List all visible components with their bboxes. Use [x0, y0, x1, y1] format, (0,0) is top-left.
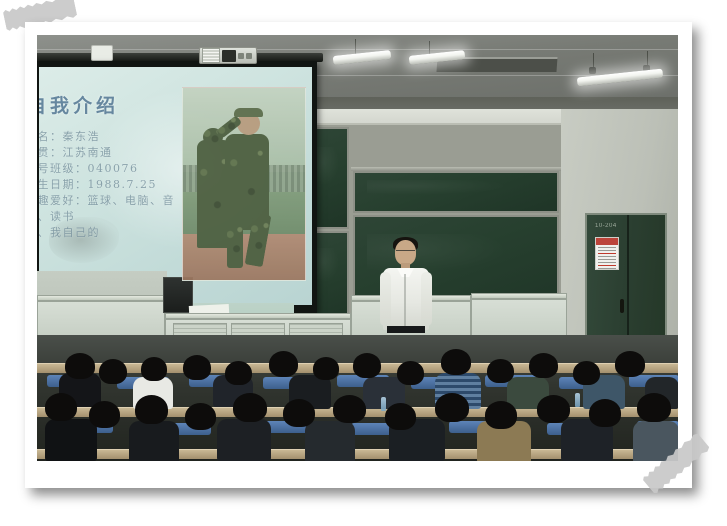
door-notice-sign: [595, 237, 619, 270]
student-head: [333, 395, 366, 423]
projected-slide: 自我介绍 姓名：秦东浩 籍贯：江苏南通 学号班级：040076 出生日期：198…: [39, 67, 312, 305]
student-head: [385, 403, 416, 430]
student-head: [573, 361, 600, 385]
student-head: [615, 351, 645, 377]
student-head: [397, 361, 424, 385]
notice-text-lines: [596, 245, 618, 269]
slide-line: 兴趣爱好：篮球、电脑、音: [39, 193, 175, 209]
presenter-belt: [387, 326, 425, 333]
notice-line: [598, 250, 616, 251]
slide-line: 姓名：秦东浩: [39, 129, 175, 145]
slide-line: 学号班级：040076: [39, 161, 175, 177]
water-bottle: [381, 397, 386, 411]
water-bottle: [575, 393, 580, 407]
student-head: [65, 353, 95, 379]
notice-line: [598, 265, 616, 266]
student-head: [487, 359, 514, 383]
slide-embedded-photo: [182, 87, 306, 281]
ceiling-projector-unit: [199, 47, 257, 64]
blackboard-panel-left-top: [313, 127, 349, 229]
student-head: [435, 393, 469, 422]
presenter-arm-right: [421, 272, 432, 326]
soldier-cap-icon: [234, 108, 263, 117]
slide-line: 出生日期：1988.7.25: [39, 177, 175, 193]
notice-line: [598, 247, 616, 248]
student-torso: [633, 421, 678, 461]
classroom-photograph: 自我介绍 姓名：秦东浩 籍贯：江苏南通 学号班级：040076 出生日期：198…: [37, 35, 678, 461]
student-head: [529, 353, 558, 378]
light-bracket: [589, 67, 596, 74]
student-head: [45, 393, 77, 421]
projector-button-icon[interactable]: [238, 53, 244, 59]
slide-line: 二、我自己的: [39, 225, 175, 241]
student-head: [135, 395, 168, 424]
student-head: [485, 401, 517, 429]
student-head: [283, 399, 315, 427]
projector-button-icon[interactable]: [246, 53, 252, 59]
screen-bracket-left: [91, 45, 113, 61]
student-head: [441, 349, 471, 375]
student-torso: [305, 421, 355, 461]
blackboard-upper-rail: [351, 167, 561, 171]
student-torso: [217, 419, 271, 461]
student-head: [637, 393, 671, 422]
ceiling-light-1: [333, 50, 392, 65]
soldier-leg-left: [227, 220, 243, 268]
student-head: [89, 401, 120, 428]
slide-line: 乐、读书: [39, 209, 175, 225]
slide-line: 籍贯：江苏南通: [39, 145, 175, 161]
slide-body-text: 姓名：秦东浩 籍贯：江苏南通 学号班级：040076 出生日期：1988.7.2…: [39, 129, 175, 241]
notice-line: [598, 259, 616, 260]
notice-line: [598, 256, 616, 257]
student-head: [99, 359, 127, 384]
student-head: [589, 399, 621, 427]
student-head: [313, 357, 339, 380]
student-torso: [45, 419, 97, 461]
student-head: [353, 353, 381, 378]
student-head: [185, 403, 216, 430]
room-number-label: 10-204: [595, 223, 617, 229]
presenter-shirt-placket: [404, 274, 406, 326]
projector-lens-icon: [202, 48, 220, 63]
ceiling-seam: [37, 49, 678, 50]
student-audience: [37, 335, 678, 461]
photo-mat-frame: 自我介绍 姓名：秦东浩 籍贯：江苏南通 学号班级：040076 出生日期：198…: [25, 22, 692, 488]
slide-title: 自我介绍: [39, 91, 119, 118]
student-head: [269, 351, 298, 377]
student-head: [183, 355, 211, 380]
presenter-arm-left: [380, 272, 391, 326]
notice-line: [598, 253, 616, 254]
projector-body-panel: [222, 50, 236, 62]
notice-header-bar: [596, 238, 618, 245]
student-head: [537, 395, 570, 423]
glasses-icon: [396, 250, 415, 255]
student-torso: [129, 421, 179, 461]
blackboard-panel-upper-slider: [353, 171, 559, 213]
student-head: [233, 393, 267, 422]
notice-line: [598, 262, 616, 263]
student-head: [141, 357, 167, 381]
notice-line: [598, 268, 616, 269]
student-head: [225, 361, 252, 385]
